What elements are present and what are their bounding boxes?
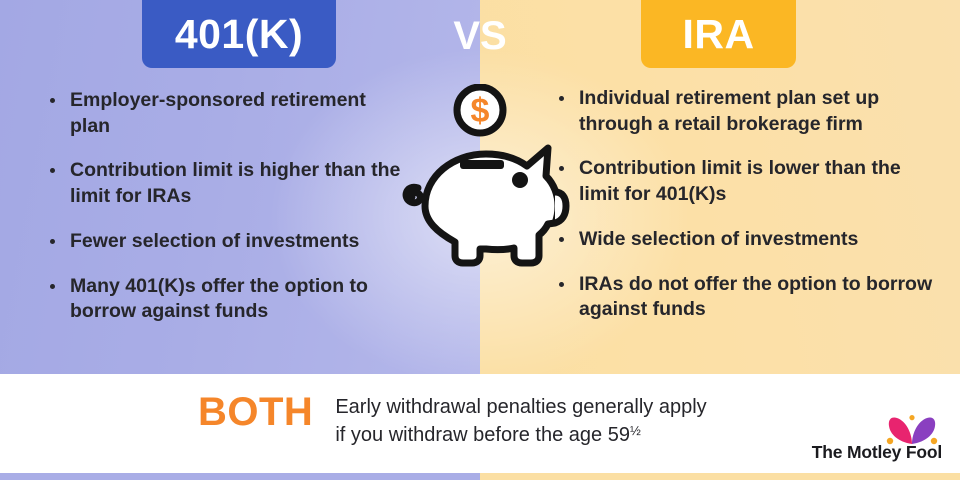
brand-name: The Motley Fool bbox=[812, 442, 942, 463]
footer-rule bbox=[0, 473, 960, 480]
bullet-list-401k: Employer-sponsored retirement plan Contr… bbox=[44, 88, 402, 325]
panel-ira: IRA Individual retirement plan set up th… bbox=[480, 0, 960, 374]
list-item: Wide selection of investments bbox=[553, 227, 943, 253]
list-item: Contribution limit is lower than the lim… bbox=[553, 156, 943, 207]
panel-401k: 401(K) Employer-sponsored retirement pla… bbox=[0, 0, 480, 374]
list-item: Many 401(K)s offer the option to borrow … bbox=[44, 274, 402, 325]
both-line-1: Early withdrawal penalties generally app… bbox=[335, 393, 706, 421]
both-line-2: if you withdraw before the age 59½ bbox=[335, 421, 706, 449]
header-chip-ira: IRA bbox=[641, 0, 796, 68]
list-item: Individual retirement plan set up throug… bbox=[553, 86, 943, 137]
list-item: Fewer selection of investments bbox=[44, 229, 402, 255]
list-item: IRAs do not offer the option to borrow a… bbox=[553, 272, 943, 323]
footer-rule-right bbox=[480, 473, 960, 480]
bullet-list-ira: Individual retirement plan set up throug… bbox=[553, 86, 943, 323]
both-section: BOTH Early withdrawal penalties generall… bbox=[0, 374, 960, 473]
brand-logo: The Motley Fool bbox=[796, 415, 946, 465]
list-item: Contribution limit is higher than the li… bbox=[44, 158, 402, 209]
both-row: BOTH Early withdrawal penalties generall… bbox=[198, 390, 707, 450]
both-line-2-text: if you withdraw before the age 59 bbox=[335, 424, 630, 446]
header-chip-401k: 401(K) bbox=[142, 0, 336, 68]
list-item: Employer-sponsored retirement plan bbox=[44, 88, 402, 139]
jester-hat-icon bbox=[884, 415, 940, 445]
infographic-401k-vs-ira: 401(K) Employer-sponsored retirement pla… bbox=[0, 0, 960, 480]
footer-rule-left bbox=[0, 473, 480, 480]
both-description: Early withdrawal penalties generally app… bbox=[335, 390, 706, 450]
both-label: BOTH bbox=[198, 390, 313, 435]
age-fraction: ½ bbox=[630, 424, 641, 439]
comparison-section: 401(K) Employer-sponsored retirement pla… bbox=[0, 0, 960, 374]
